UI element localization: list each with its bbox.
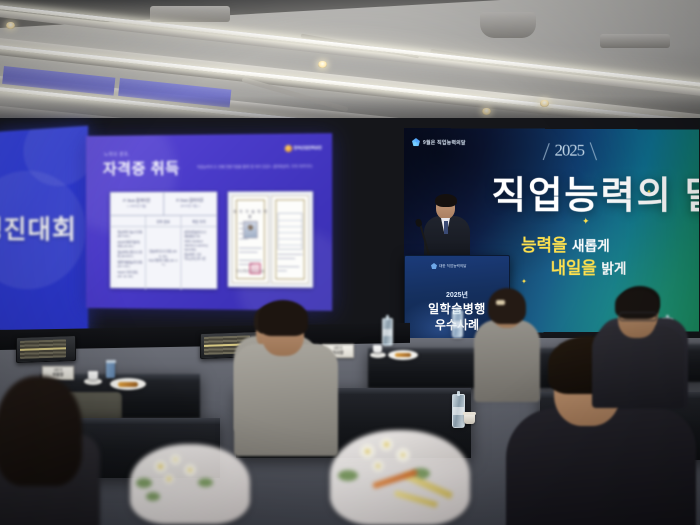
subheader-completed: 취득 완료 (145, 216, 180, 226)
flower-bouquet-left (130, 444, 250, 524)
vent-box-right (600, 34, 670, 48)
table-header-after: P-Tech 참여이후 (2023년 3월~) (163, 192, 217, 214)
vent-duct-round (480, 12, 536, 38)
certificate-line (239, 238, 248, 239)
banner-logo-icon (412, 138, 420, 146)
audience-front-left (0, 376, 100, 525)
flower-bouquet-right (352, 436, 472, 518)
flower (184, 464, 196, 476)
audience-front-center (234, 296, 338, 456)
speaker-tie (444, 221, 448, 234)
certificate-right (271, 195, 309, 284)
slide-logo-text: 한국산업인력공단 (294, 146, 322, 151)
speaker-person (424, 196, 470, 258)
banner-title: 직업능력의 달 (491, 164, 698, 219)
slide-comparison-table: P-Tech 참여이전 (~2023년 2월) P-Tech 참여이후 (202… (110, 191, 217, 289)
person-hair (0, 376, 82, 486)
main-presentation-screen: 노력의 결과, 자격증 취득 직업능력의 두 번째 반환기점을 통해 '참 되어… (86, 133, 332, 311)
subtitle-plain: 밝게 (601, 261, 626, 277)
list-item: 정보처리산업기사 취득 (22.8.27.) (117, 250, 142, 259)
certificate-line (277, 270, 286, 271)
water-bottle (382, 318, 393, 346)
banner-subtitle-line2: 내일을 밝게 (551, 254, 627, 279)
tumbler-cap (106, 360, 116, 363)
person-hair (258, 300, 308, 336)
flower (164, 474, 174, 484)
person-body (234, 344, 338, 456)
slide-certificate-images: 국 가 기 술 자 격 증 한국산업인력공단 이사장 (228, 191, 314, 288)
flower (170, 454, 181, 465)
list-item: 리눅스마스터 1급 (184, 257, 214, 262)
ribbon (372, 469, 418, 489)
subtitle-accent: 능력을 (521, 236, 567, 255)
organization-logo-icon (284, 145, 291, 152)
banner-subtitle-line1: 능력을 새롭게 (521, 231, 610, 256)
speaker-hair (435, 194, 457, 207)
tumbler (106, 362, 115, 378)
certificate-line (239, 233, 252, 234)
podium-logo: 대한 직업능력의달 (431, 263, 466, 269)
table-cell-before-list: 정보처리기능사 취득 (21.7.16.) ADsP(데이터분석) 취득 (21… (111, 227, 145, 290)
vent-box-left (150, 6, 230, 22)
hair-clip-icon (496, 300, 505, 305)
water-bottle (452, 394, 465, 428)
list-item: 정보처리기사 취득 (23. 6. 16.) (149, 250, 178, 259)
audience-far-right (592, 286, 684, 404)
certificate-line (239, 248, 262, 249)
paper-cup (464, 412, 475, 424)
list-item: SQLD 자격 취득 (22. 12. 23.) (117, 270, 142, 279)
bottle-label (383, 329, 392, 336)
grid-line (279, 238, 302, 239)
certificate-line (277, 266, 299, 267)
table-header-before: P-Tech 참여이전 (~2023년 2월) (111, 193, 163, 215)
leaf (136, 478, 152, 488)
slide-description: 직업능력의 두 번째 반환기점을 통해 '참 되어 있었느 결과대상의, 이의 … (197, 164, 322, 170)
grid-line (279, 226, 302, 227)
subtitle-plain: 새롭게 (572, 238, 610, 254)
person-hair (488, 288, 526, 324)
pastry (395, 353, 412, 357)
certificate-seal (249, 263, 260, 274)
grid-line (279, 220, 302, 221)
coffee-cup (373, 345, 382, 353)
light-lens (20, 339, 66, 359)
table-subheader-row: 취득 완료 목표 자격 (111, 216, 216, 227)
person-body (592, 326, 684, 408)
leaf (146, 492, 160, 501)
bottle-label (453, 321, 462, 328)
list-item: 정보처리기능사 취득 (21.7.16.) (117, 230, 142, 239)
completed-list: 정보처리기사 취득 (23. 6. 16.) SQL개발자 취득 (23. 2.… (149, 250, 178, 268)
downlight-1 (6, 22, 15, 29)
subtitle-accent: 내일을 (551, 259, 597, 278)
glasses-icon (619, 312, 657, 321)
podium-logo-icon (431, 263, 437, 269)
banner-year: 2025 (555, 141, 584, 161)
podium-logo-text: 대한 직업능력의달 (439, 264, 466, 269)
flower (154, 460, 167, 473)
banner-logo-text: 9월은 직업능력의달 (423, 139, 466, 146)
dessert-plate (110, 378, 146, 390)
sparkle-icon: ✦ (521, 278, 527, 286)
table-header-row: P-Tech 참여이전 (~2023년 2월) P-Tech 참여이후 (202… (111, 192, 216, 215)
pastry (118, 382, 138, 387)
before-list: 정보처리기능사 취득 (21.7.16.) ADsP(데이터분석) 취득 (21… (113, 230, 142, 279)
certificate-line (277, 254, 302, 255)
certificate-table (277, 213, 302, 250)
list-item: ADsP(데이터분석) 취득 (21.10.) (117, 240, 142, 249)
list-item: AWS Certified Machine Learning Specialty (184, 239, 214, 252)
subheader-spacer (111, 216, 145, 226)
certificate-line (239, 260, 262, 261)
left-projection-screen: 경진대회 (0, 126, 88, 337)
sparkle-icon: ✦ (582, 216, 589, 227)
leaf (198, 478, 213, 487)
dessert-plate (388, 350, 418, 360)
table-cell-completed-list: 정보처리기사 취득 (23. 6. 16.) SQL개발자 취득 (23. 2.… (145, 227, 180, 290)
downlight-2 (318, 61, 327, 68)
certificate-title: 국 가 기 술 자 격 증 (233, 209, 268, 219)
list-item: SQL개발자 취득 (23. 2. 7.) (149, 258, 178, 267)
left-screen-text: 경진대회 (0, 209, 77, 247)
stage-floor-light-left (16, 335, 76, 363)
certificate-left: 국 가 기 술 자 격 증 한국산업인력공단 이사장 (232, 195, 269, 283)
certificate-line (277, 258, 295, 259)
slide-title: 자격증 취득 (103, 157, 180, 179)
subheader-target: 목표 자격 (181, 216, 217, 226)
table-body-row: 정보처리기능사 취득 (21.7.16.) ADsP(데이터분석) 취득 (21… (111, 227, 216, 290)
grid-line (279, 232, 302, 233)
certificate-line (239, 223, 251, 224)
water-bottle (452, 310, 463, 338)
banner-logo: 9월은 직업능력의달 (412, 138, 466, 146)
certificate-line (239, 228, 249, 229)
conference-hall-photo: 경진대회 노력의 결과, 자격증 취득 직업능력의 두 번째 반환기점을 통해 … (0, 0, 700, 525)
slide-logo: 한국산업인력공단 (284, 145, 321, 153)
list-item: 컴퓨터활용능력 취득 (21.7.21.) (117, 260, 142, 269)
person-body (506, 408, 696, 525)
certificate-line (239, 252, 258, 253)
table-cell-target-list: 빅데이터분석기사 정보보안기사 AWS Certified Machine Le… (181, 227, 217, 290)
sparkle-icon: ✦ (647, 189, 652, 196)
grid-line (279, 245, 302, 246)
